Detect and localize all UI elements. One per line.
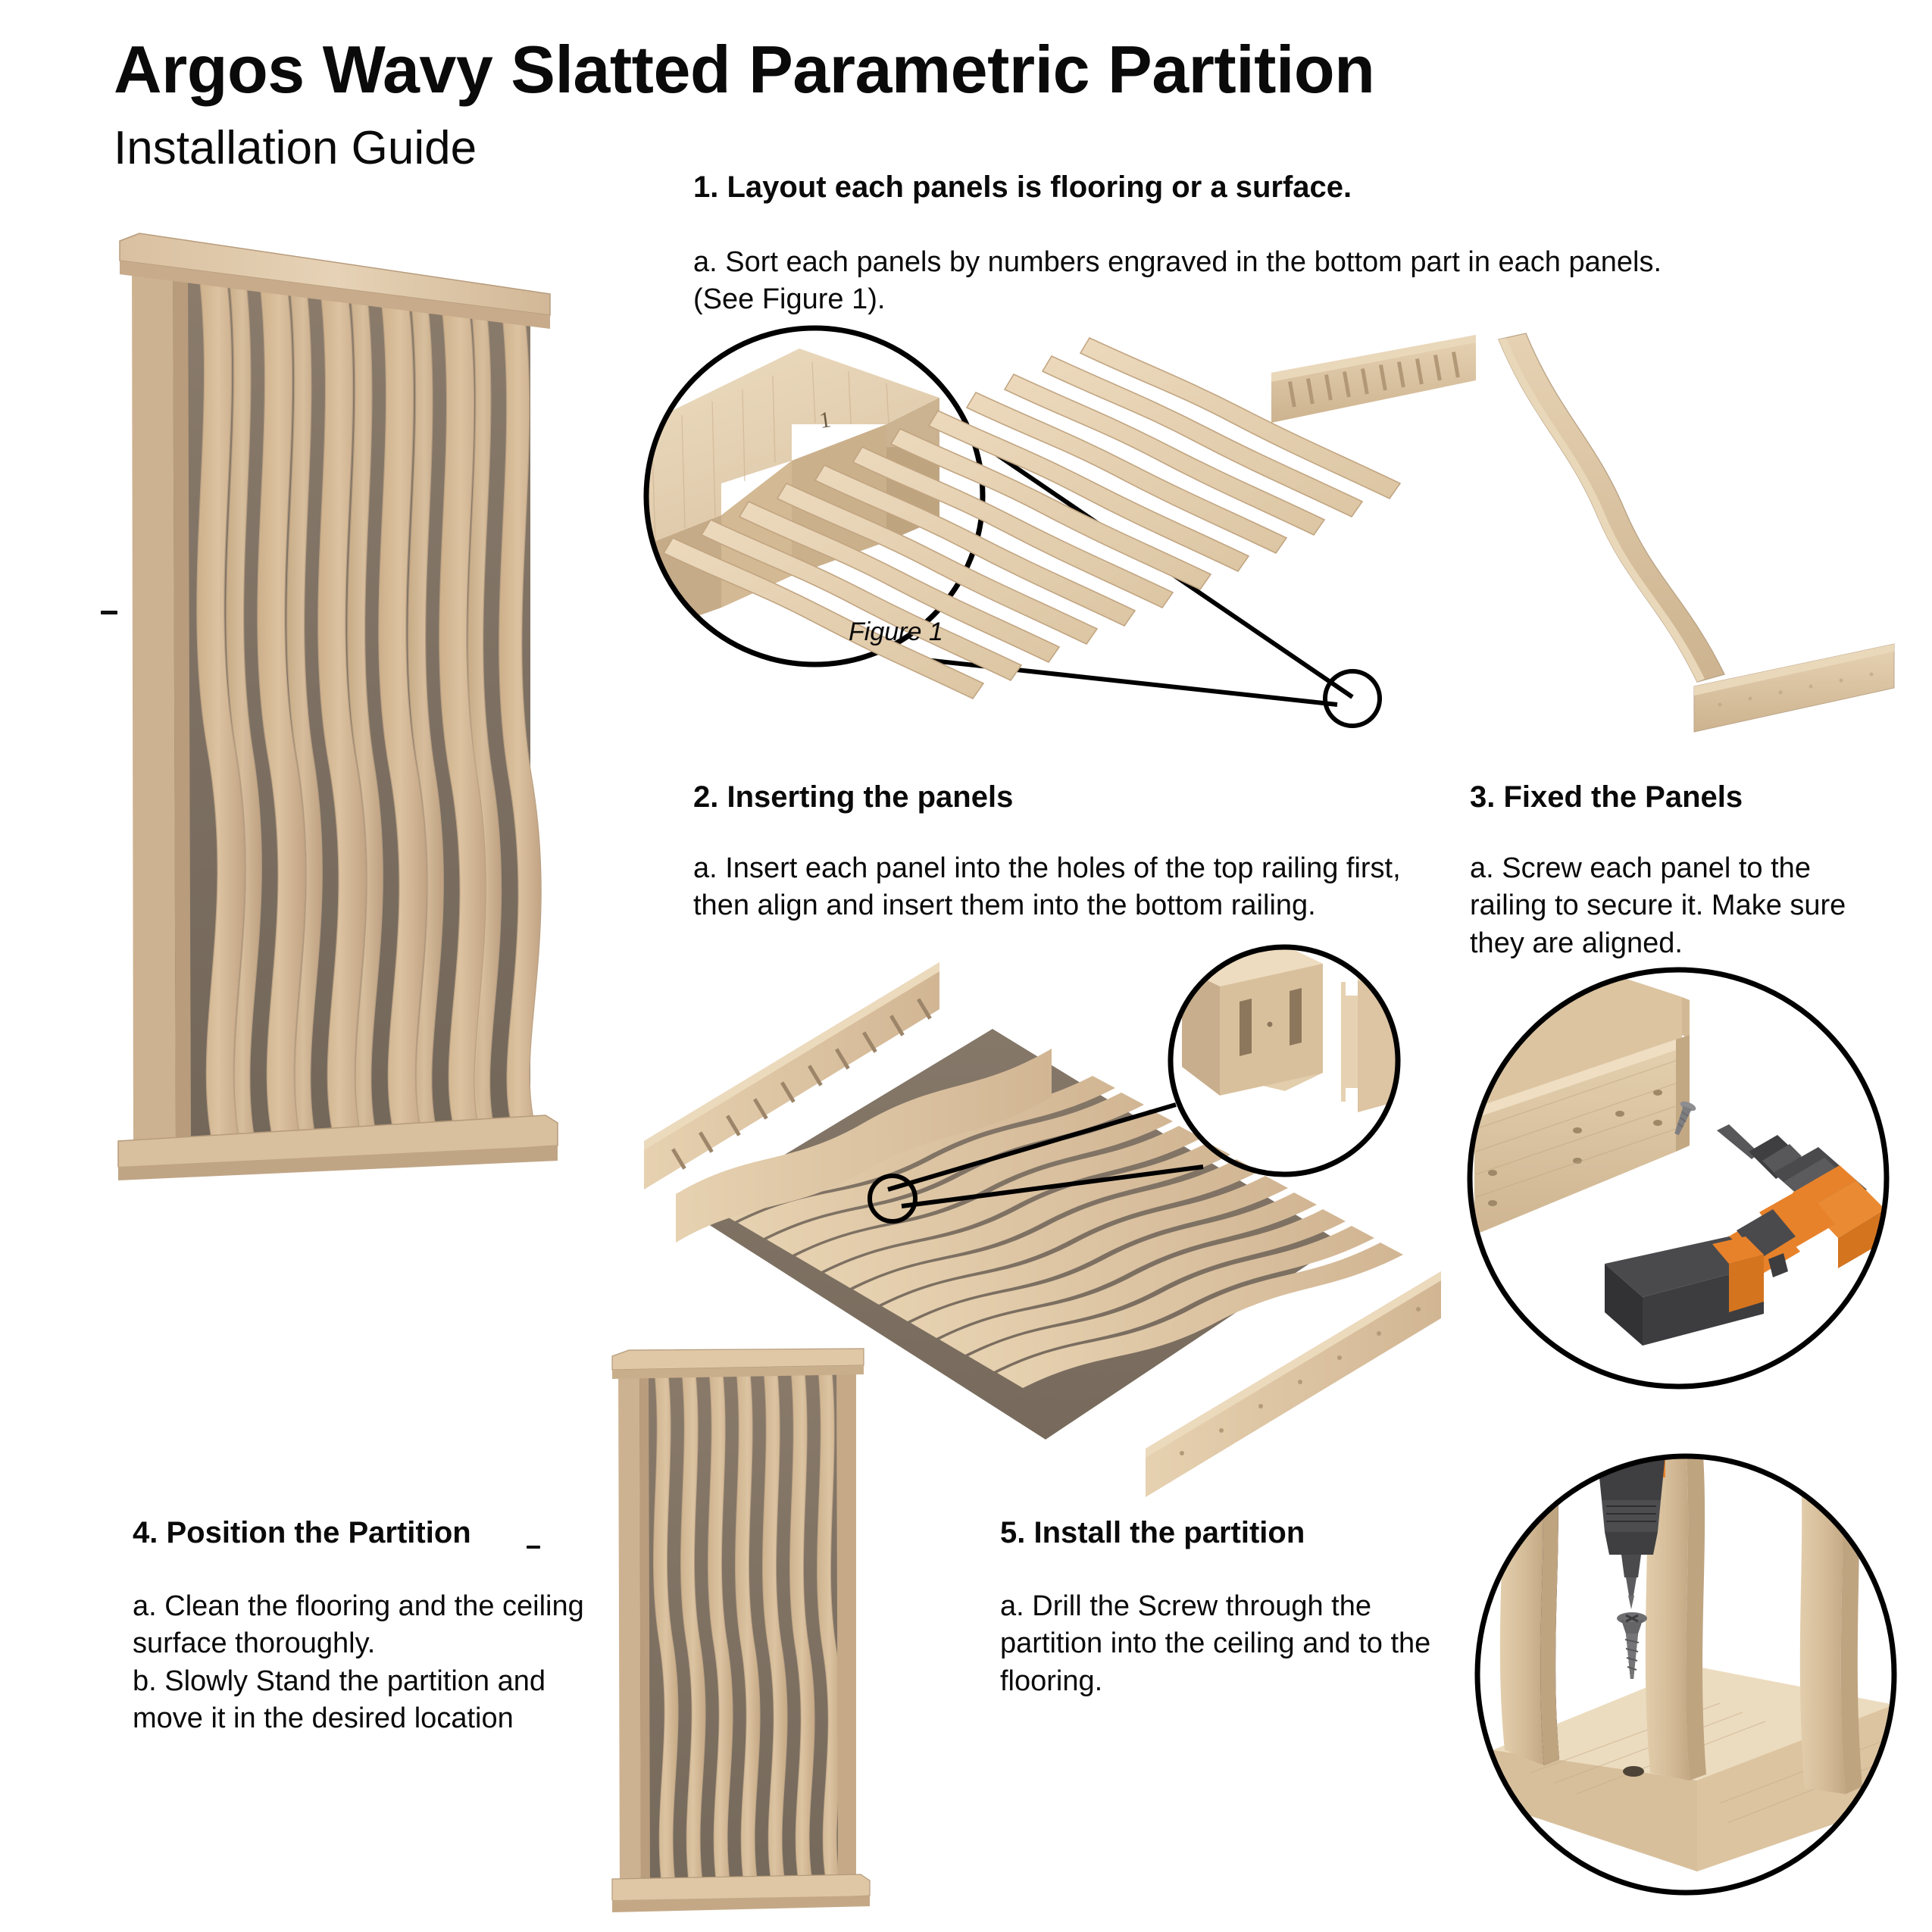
- page-subtitle: Installation Guide: [114, 125, 477, 172]
- stray-dash-artifact: [101, 611, 117, 614]
- step-5-floor-screw-detail: [1470, 1447, 1902, 1902]
- detail-target-circle: [1325, 671, 1380, 726]
- step-3-body: a. Screw each panel to the railing to se…: [1470, 850, 1894, 962]
- page-title: Argos Wavy Slatted Parametric Partition: [114, 36, 1374, 103]
- step-4-body: a. Clean the flooring and the ceiling su…: [133, 1588, 602, 1738]
- step-3-screw-detail: [1462, 962, 1894, 1394]
- step-1-layout-diagram: 1: [636, 326, 1924, 727]
- step-1-body: a. Sort each panels by numbers engraved …: [693, 244, 1921, 319]
- step-5-heading: 5. Install the partition: [1000, 1514, 1305, 1552]
- wavy-side-rail: [1499, 333, 1724, 682]
- top-railing-piece: [1271, 335, 1476, 423]
- figure-1-caption: Figure 1: [849, 617, 943, 647]
- step-5-body: a. Drill the Screw through the partition…: [1000, 1588, 1470, 1700]
- step-3-heading: 3. Fixed the Panels: [1470, 778, 1743, 816]
- stray-dash-artifact-2: [527, 1546, 540, 1549]
- hero-partition-render: [106, 227, 576, 1258]
- step-4-heading: 4. Position the Partition: [133, 1514, 471, 1552]
- step-1-heading: 1. Layout each panels is flooring or a s…: [693, 168, 1352, 206]
- bottom-railing-piece: [1694, 644, 1894, 732]
- step-4-partition-render: [606, 1349, 902, 1932]
- step-2-heading: 2. Inserting the panels: [693, 778, 1013, 816]
- step-2-body: a. Insert each panel into the holes of t…: [693, 850, 1451, 925]
